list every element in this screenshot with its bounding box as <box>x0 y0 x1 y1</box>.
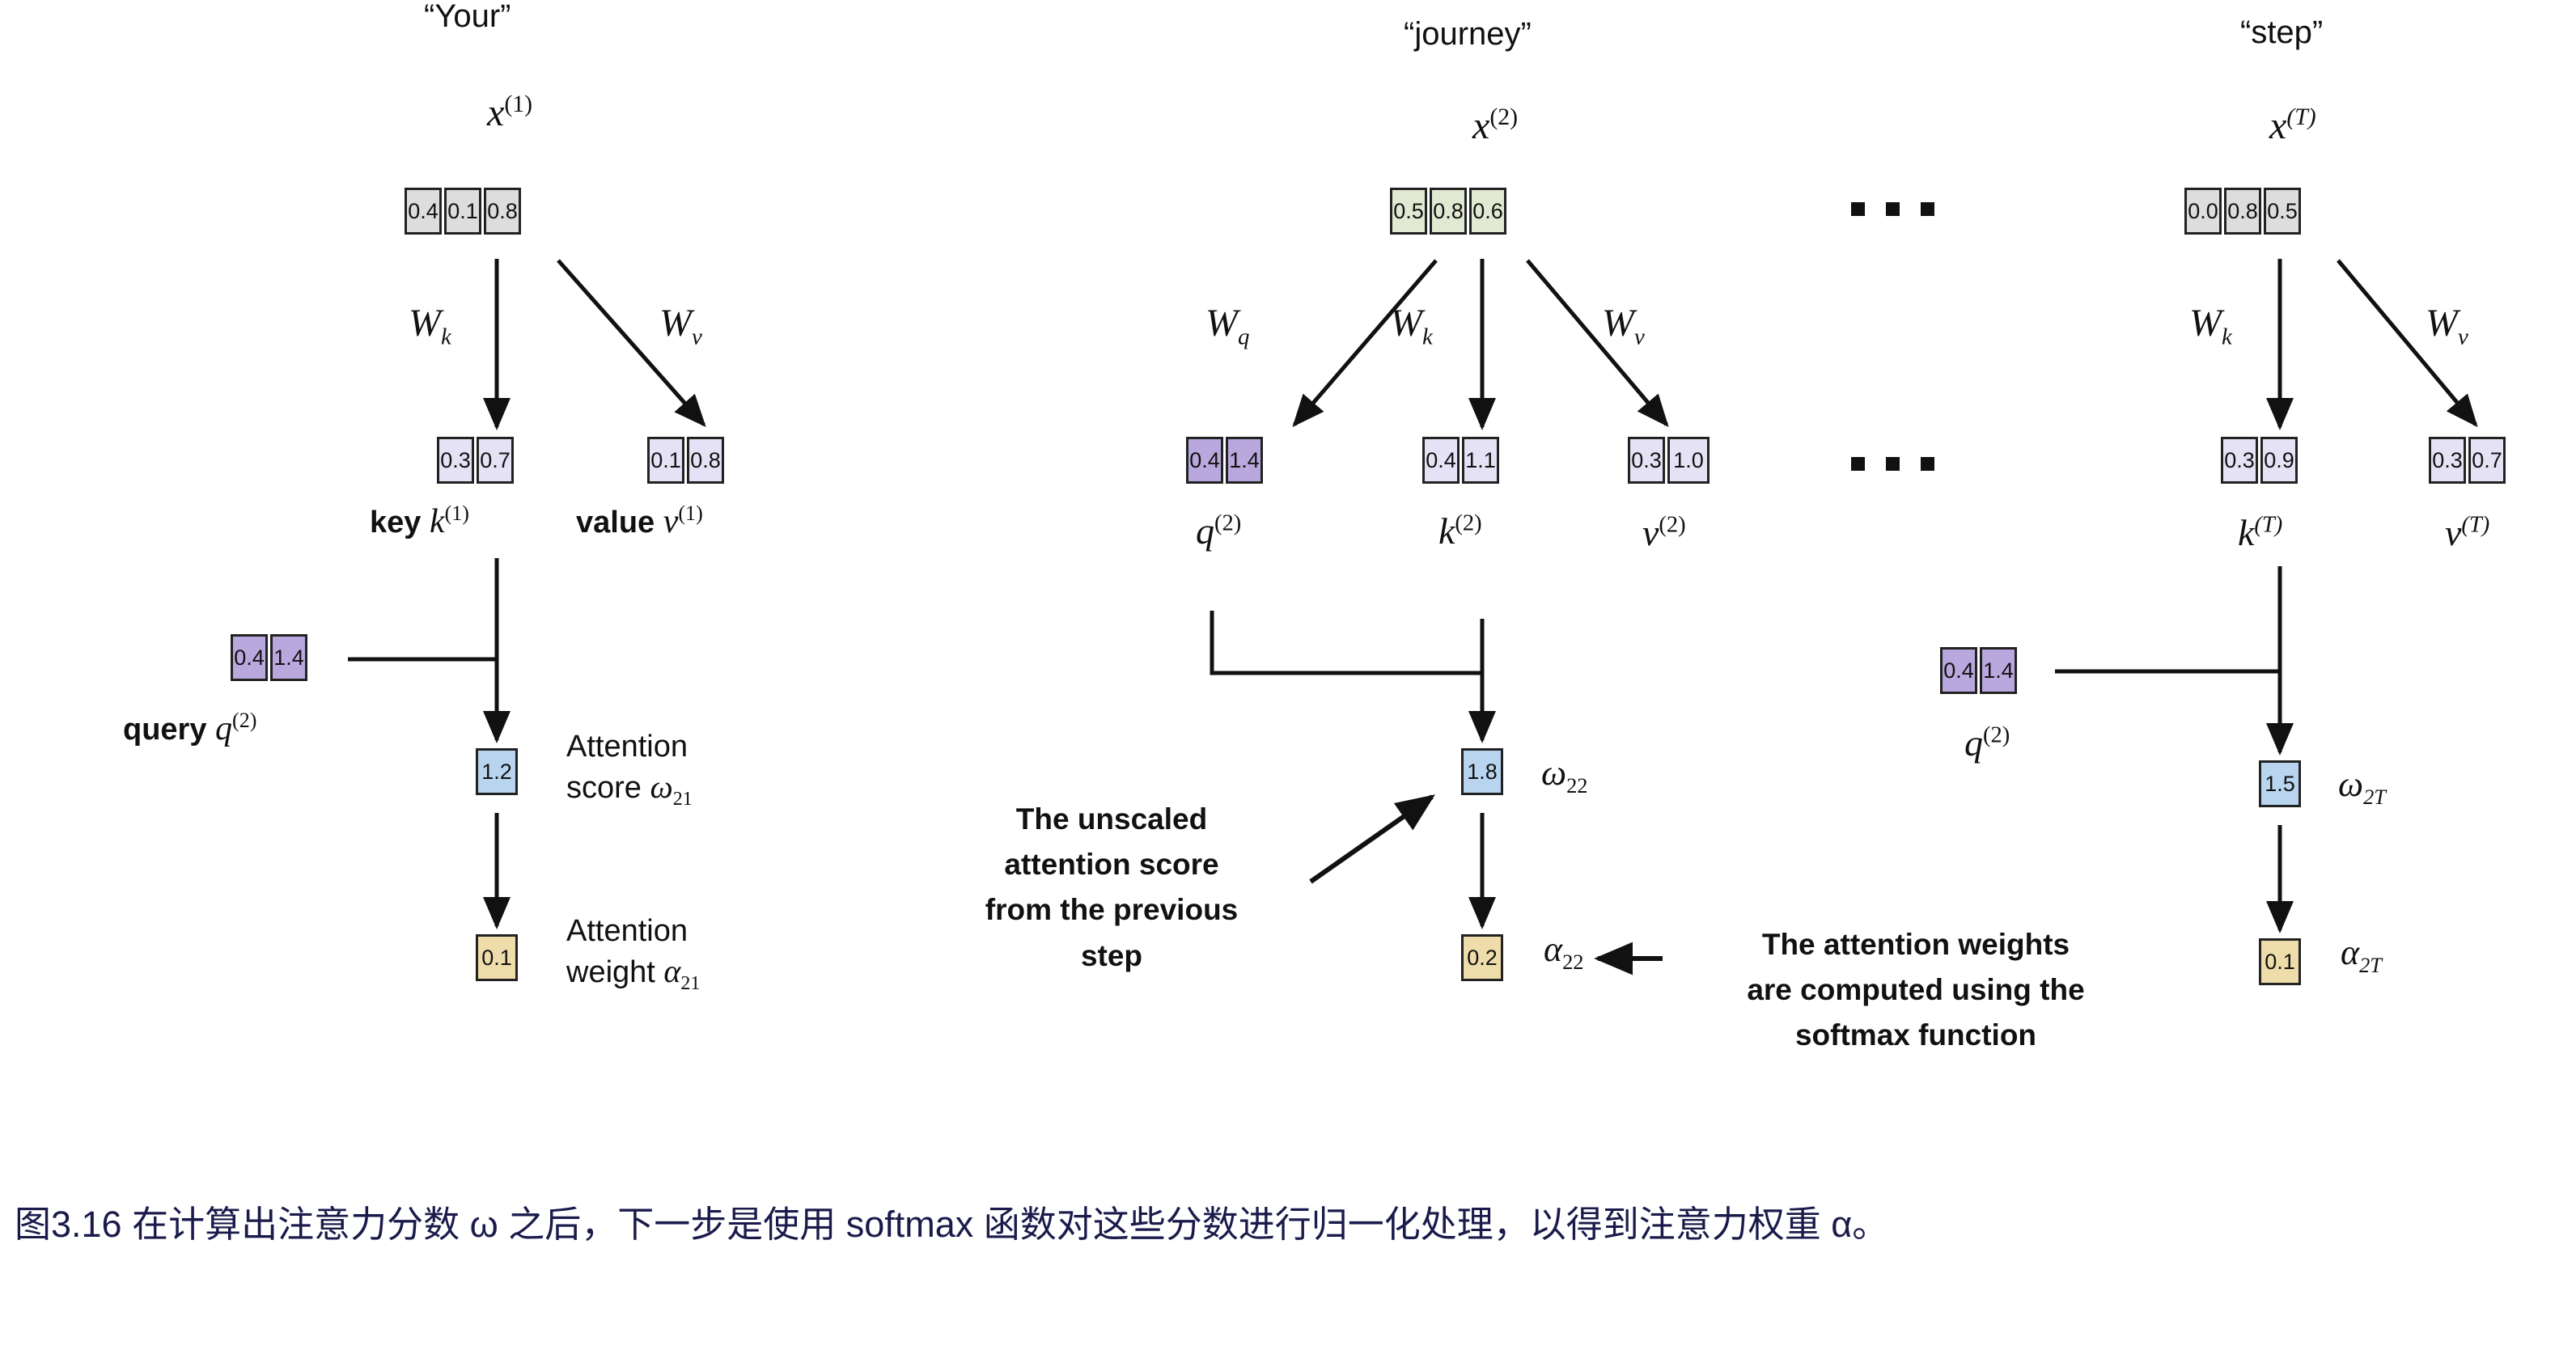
figure-canvas: “Your” x(1) 0.4 0.1 0.8 Wk Wv 0.3 0.7 ke… <box>0 0 2576 1367</box>
query-cell: 1.4 <box>1226 437 1263 484</box>
score-box-col3: 1.5 <box>2259 760 2301 807</box>
ellipsis-top <box>1851 202 1934 216</box>
value-cell: 0.3 <box>1628 437 1665 484</box>
key-label-col3: k(T) <box>2238 511 2282 554</box>
score-caption-col1: Attention score ω21 <box>566 728 693 811</box>
input-cell: 0.0 <box>2184 188 2222 235</box>
value-vector-col2: 0.3 1.0 <box>1628 437 1710 484</box>
weight-cell: 0.2 <box>1461 934 1503 981</box>
score-symbol-col3: ω2T <box>2338 764 2386 810</box>
value-cell: 0.1 <box>647 437 684 484</box>
query-cell: 0.4 <box>1186 437 1223 484</box>
query-label-col2: q(2) <box>1196 510 1241 552</box>
value-cell: 0.8 <box>687 437 724 484</box>
key-cell: 0.7 <box>477 437 514 484</box>
weight-symbol-col2: α22 <box>1544 929 1584 975</box>
score-cell: 1.5 <box>2259 760 2301 807</box>
value-vector-col1: 0.1 0.8 <box>647 437 724 484</box>
input-vector-col1: 0.4 0.1 0.8 <box>405 188 521 235</box>
query-cell: 1.4 <box>270 634 307 681</box>
weight-cell: 0.1 <box>476 934 518 981</box>
weight-symbol-col3: α2T <box>2341 932 2382 978</box>
ellipsis-dot <box>1921 457 1934 471</box>
score-symbol-col2: ω22 <box>1541 752 1587 798</box>
query-vector-col1: 0.4 1.4 <box>231 634 307 681</box>
annotation-softmax: The attention weights are computed using… <box>1681 922 2150 1059</box>
score-cell: 1.2 <box>476 748 518 795</box>
key-vector-col2: 0.4 1.1 <box>1422 437 1499 484</box>
x-label-col2: x(2) <box>1472 104 1518 148</box>
x-label-col3: x(T) <box>2269 104 2316 148</box>
value-cell: 1.0 <box>1667 437 1710 484</box>
token-word-col3: “step” <box>2240 15 2323 51</box>
input-cell: 0.6 <box>1469 188 1506 235</box>
score-box-col1: 1.2 <box>476 748 518 795</box>
figure-caption: 图3.16 在计算出注意力分数 ω 之后，下一步是使用 softmax 函数对这… <box>15 1196 2523 1255</box>
query-cell: 0.4 <box>1940 647 1977 694</box>
key-vector-col3: 0.3 0.9 <box>2221 437 2298 484</box>
value-cell: 0.7 <box>2468 437 2506 484</box>
ellipsis-dot <box>1921 202 1934 216</box>
input-cell: 0.8 <box>1430 188 1467 235</box>
query-vector-col2: 0.4 1.4 <box>1186 437 1263 484</box>
weight-label-wv-col2: Wv <box>1602 301 1645 351</box>
value-vector-col3: 0.3 0.7 <box>2429 437 2506 484</box>
ellipsis-dot <box>1851 457 1865 471</box>
score-cell: 1.8 <box>1461 748 1503 795</box>
input-vector-col3: 0.0 0.8 0.5 <box>2184 188 2301 235</box>
key-cell: 1.1 <box>1462 437 1499 484</box>
value-cell: 0.3 <box>2429 437 2466 484</box>
weight-label-wv-col3: Wv <box>2426 301 2468 351</box>
key-label-col2: k(2) <box>1438 510 1482 552</box>
weight-box-col1: 0.1 <box>476 934 518 981</box>
weight-label-wk-col1: Wk <box>409 301 451 351</box>
key-cell: 0.3 <box>437 437 474 484</box>
query-cell: 1.4 <box>1980 647 2017 694</box>
input-cell: 0.4 <box>405 188 442 235</box>
annotation-unscaled-score: The unscaled attention score from the pr… <box>917 797 1306 979</box>
weight-cell: 0.1 <box>2259 938 2301 985</box>
weight-label-wk-col3: Wk <box>2189 301 2232 351</box>
input-cell: 0.5 <box>1390 188 1427 235</box>
value-label-col2: v(2) <box>1642 511 1686 554</box>
input-cell: 0.8 <box>484 188 521 235</box>
key-vector-col1: 0.3 0.7 <box>437 437 514 484</box>
weight-label-wk-col2: Wk <box>1390 301 1433 351</box>
key-cell: 0.9 <box>2260 437 2298 484</box>
x-label-col1: x(1) <box>487 91 532 135</box>
input-cell: 0.1 <box>444 188 481 235</box>
ellipsis-dot <box>1886 202 1900 216</box>
weight-caption-col1: Attention weight α21 <box>566 912 700 996</box>
value-label-col3: v(T) <box>2445 511 2489 554</box>
query-label-col3: q(2) <box>1964 722 2010 764</box>
key-label-col1: key k(1) <box>370 502 469 541</box>
ellipsis-middle <box>1851 457 1934 471</box>
query-label-col1: query q(2) <box>123 709 256 748</box>
key-cell: 0.4 <box>1422 437 1460 484</box>
token-word-col1: “Your” <box>424 0 511 35</box>
weight-box-col3: 0.1 <box>2259 938 2301 985</box>
weight-label-wv-col1: Wv <box>659 301 702 351</box>
weight-box-col2: 0.2 <box>1461 934 1503 981</box>
query-cell: 0.4 <box>231 634 268 681</box>
token-word-col2: “journey” <box>1404 16 1532 53</box>
key-cell: 0.3 <box>2221 437 2258 484</box>
ellipsis-dot <box>1851 202 1865 216</box>
input-vector-col2: 0.5 0.8 0.6 <box>1390 188 1506 235</box>
query-vector-col3: 0.4 1.4 <box>1940 647 2017 694</box>
input-cell: 0.8 <box>2224 188 2261 235</box>
ellipsis-dot <box>1886 457 1900 471</box>
value-label-col1: value v(1) <box>576 502 703 541</box>
weight-label-wq-col2: Wq <box>1205 301 1249 351</box>
input-cell: 0.5 <box>2264 188 2301 235</box>
score-box-col2: 1.8 <box>1461 748 1503 795</box>
